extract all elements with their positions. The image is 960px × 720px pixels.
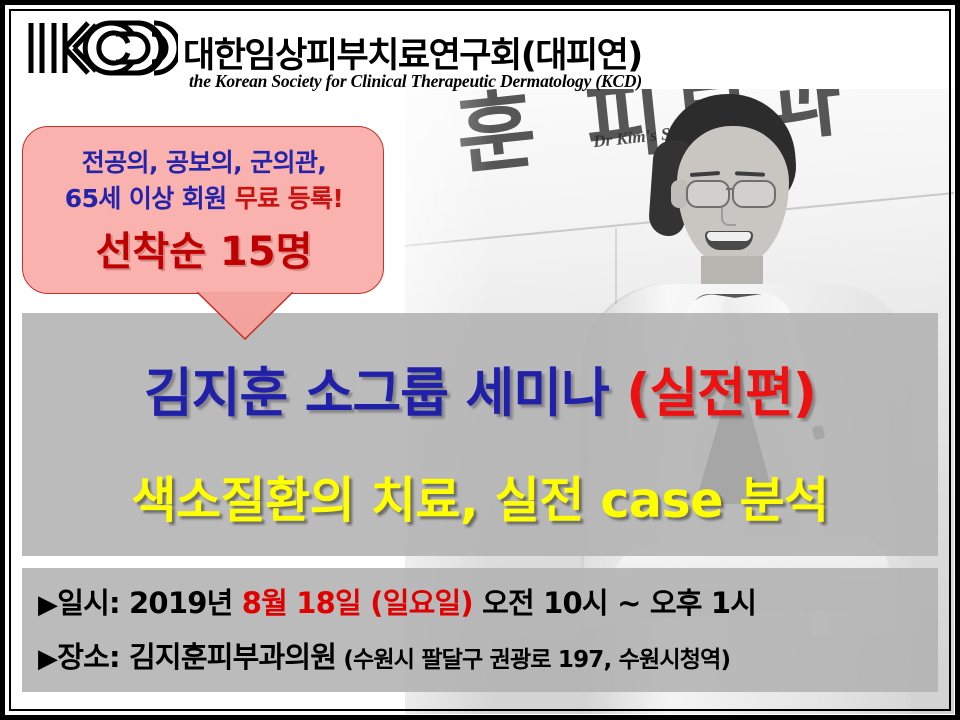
venue-name: 장소: 김지훈피부과의원: [57, 640, 336, 674]
speech-bubble-tail-outline: [197, 292, 293, 340]
callout-free-registration: 무료 등록!: [235, 184, 344, 213]
callout-line-2: 65세 이상 회원 무료 등록!: [23, 179, 385, 215]
kcd-logo: [24, 17, 178, 79]
callout-age-label: 65세 이상 회원: [65, 184, 235, 213]
event-details-band: ▶일시: 2019년 8월 18일 (일요일) 오전 10시 ~ 오후 1시 ▶…: [22, 568, 938, 692]
datetime-label: 일시: 2019년: [57, 586, 242, 620]
bullet-arrow-icon: ▶: [38, 590, 57, 620]
seminar-title-main: 김지훈 소그룹 세미나: [144, 363, 626, 424]
bullet-arrow-icon-2: ▶: [38, 644, 57, 674]
event-datetime-row: ▶일시: 2019년 8월 18일 (일요일) 오전 10시 ~ 오후 1시: [38, 580, 756, 622]
title-band: 김지훈 소그룹 세미나 (실전편) 색소질환의 치료, 실전 case 분석: [22, 313, 938, 556]
poster-header: 대한임상피부치료연구회(대피연) the Korean Society for …: [11, 11, 949, 89]
seminar-subtitle: 색소질환의 치료, 실전 case 분석: [22, 461, 938, 532]
callout-line-1: 전공의, 공보의, 군의관,: [23, 143, 385, 179]
venue-address: (수원시 팔달구 권광로 197, 수원시청역): [336, 647, 730, 673]
seminar-poster: 훈 피부과 Dr Kim's Skin &: [0, 0, 960, 720]
callout-first-come-limit: 선착순 15명: [23, 219, 385, 277]
callout-eligibility-text: 전공의, 공보의, 군의관,: [82, 148, 327, 177]
datetime-date: 8월 18일 (일요일): [242, 586, 473, 620]
datetime-time: 오전 10시 ~ 오후 1시: [473, 586, 756, 620]
free-registration-callout: 전공의, 공보의, 군의관, 65세 이상 회원 무료 등록! 선착순 15명: [22, 126, 384, 294]
event-venue-row: ▶장소: 김지훈피부과의원 (수원시 팔달구 권광로 197, 수원시청역): [38, 634, 730, 676]
seminar-title-suffix: (실전편): [626, 363, 816, 424]
organization-name-english: the Korean Society for Clinical Therapeu…: [189, 71, 642, 92]
seminar-title: 김지훈 소그룹 세미나 (실전편): [22, 351, 938, 427]
